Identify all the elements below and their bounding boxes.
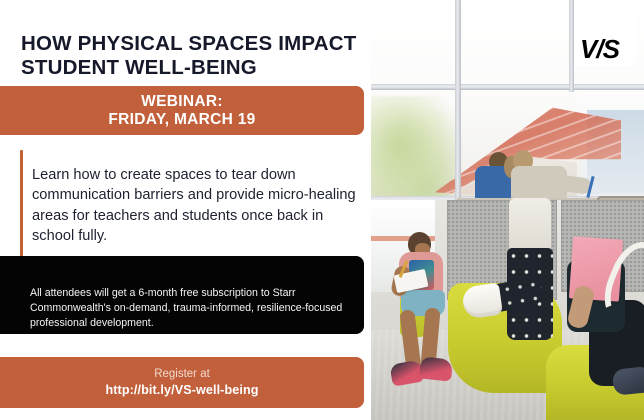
student-folder-shoe — [612, 366, 644, 396]
logo-card: V/S — [574, 0, 636, 66]
lede-text: Learn how to create spaces to tear down … — [32, 165, 368, 247]
offer-text: All attendees will get a 6-month free su… — [30, 286, 350, 331]
vs-logo[interactable]: V/S — [580, 36, 632, 62]
offer-box: All attendees will get a 6-month free su… — [0, 256, 364, 334]
page-title: HOW PHYSICAL SPACES IMPACT STUDENT WELL-… — [21, 32, 366, 80]
accent-rule — [20, 150, 23, 261]
poster-canvas: V/S HOW PHYSICAL SPACES IMPACT STUDENT W… — [0, 0, 644, 420]
webinar-banner-label: WEBINAR:FRIDAY, MARCH 19 — [108, 93, 255, 129]
photo-panel: V/S — [371, 0, 644, 420]
register-label: Register at — [154, 367, 210, 382]
window-mullion-vertical-left — [455, 0, 461, 203]
window-mullion-horizontal-top — [371, 84, 644, 90]
lede-block: Learn how to create spaces to tear down … — [20, 150, 368, 261]
webinar-banner: WEBINAR:FRIDAY, MARCH 19 — [0, 86, 364, 135]
register-banner[interactable]: Register at http://bit.ly/VS-well-being — [0, 357, 364, 408]
register-url-link[interactable]: http://bit.ly/VS-well-being — [105, 382, 258, 398]
